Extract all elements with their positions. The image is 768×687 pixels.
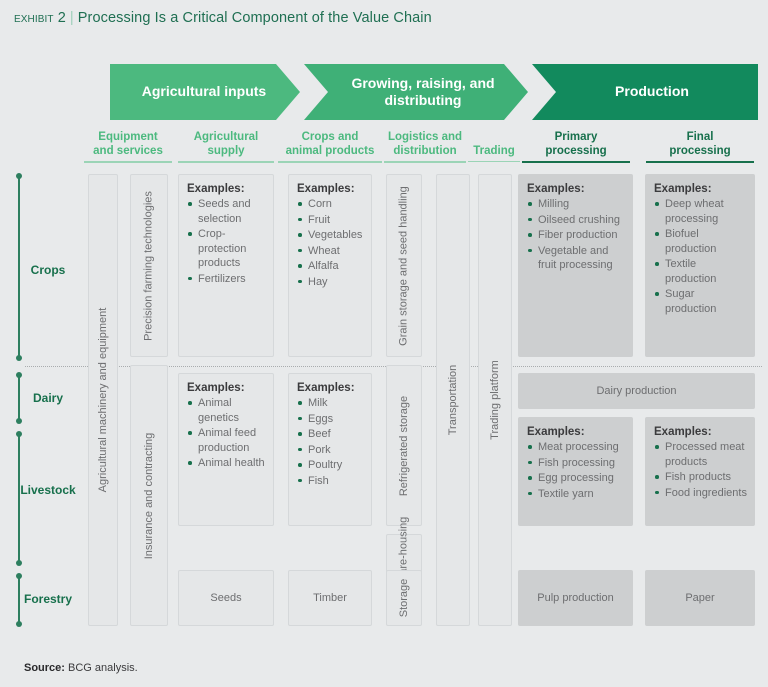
list-item: Biofuel production	[654, 227, 747, 256]
cell-forestry-storage: Storage	[386, 570, 422, 626]
list-item: Textile production	[654, 257, 747, 286]
examples-heading: Examples:	[187, 183, 266, 195]
examples-heading: Examples:	[297, 183, 364, 195]
cell-trading-platform: Trading platform	[478, 174, 512, 626]
value-chain-stage-banner: Agricultural inputs Growing, raising, an…	[110, 64, 758, 120]
stage-label: Production	[615, 83, 689, 101]
cell-label: Grain storage and seed handling	[397, 186, 412, 346]
list-item: Pork	[297, 443, 364, 458]
examples-list: Processed meat products Fish products Fo…	[654, 440, 747, 500]
list-item: Hay	[297, 275, 364, 290]
examples-heading: Examples:	[527, 426, 625, 438]
list-item: Crop-protection products	[187, 227, 266, 271]
list-item: Sugar production	[654, 287, 747, 316]
column-header-line1: Agricultural	[178, 130, 274, 144]
cell-label: Timber	[289, 592, 371, 604]
column-header-crops-and-animal-products: Crops and animal products	[278, 130, 382, 163]
column-header-line1: Crops and	[278, 130, 382, 144]
cell-forestry-products: Timber	[288, 570, 372, 626]
examples-list: Milling Oilseed crushing Fiber productio…	[527, 197, 625, 273]
list-item: Milk	[297, 396, 364, 411]
examples-heading: Examples:	[654, 426, 747, 438]
column-header-primary-processing: Primary processing	[522, 130, 630, 163]
cell-livestock-primary-processing: Examples: Meat processing Fish processin…	[518, 417, 633, 526]
list-item: Vegetable and fruit processing	[527, 244, 625, 273]
cell-grain-storage-and-seed-handling: Grain storage and seed handling	[386, 174, 422, 357]
stage-label: Growing, raising, and distributing	[330, 75, 516, 110]
row-label-livestock: Livestock	[8, 483, 88, 497]
list-item: Vegetables	[297, 228, 364, 243]
exhibit-number: Exhibit 2	[14, 10, 66, 26]
column-header-equipment-and-services: Equipment and services	[84, 130, 172, 163]
row-label-crops: Crops	[8, 263, 88, 277]
list-item: Fish	[297, 474, 364, 489]
value-chain-matrix: Crops Dairy Livestock Forestry Agricultu…	[0, 170, 768, 628]
examples-list: Corn Fruit Vegetables Wheat Alfalfa Hay	[297, 197, 364, 289]
header-underline	[468, 161, 520, 163]
list-item: Oilseed crushing	[527, 213, 625, 228]
list-item: Fish processing	[527, 456, 625, 471]
cell-forestry-final-processing: Paper	[645, 570, 755, 626]
column-header-line1: Equipment	[84, 130, 172, 144]
stage-growing-raising-distributing: Growing, raising, and distributing	[304, 64, 528, 120]
header-underline	[384, 161, 466, 163]
list-item: Meat processing	[527, 440, 625, 455]
cell-label: Storage	[397, 579, 411, 618]
examples-heading: Examples:	[527, 183, 625, 195]
row-brace-livestock	[14, 432, 23, 565]
list-item: Milling	[527, 197, 625, 212]
column-header-line2: and services	[84, 144, 172, 158]
list-item: Animal feed production	[187, 426, 266, 455]
header-underline	[278, 161, 382, 163]
column-header-line1: Final	[646, 130, 754, 144]
column-header-line2: processing	[646, 144, 754, 158]
cell-label: Insurance and contracting	[142, 432, 156, 559]
list-item: Alfalfa	[297, 259, 364, 274]
header-underline	[84, 161, 172, 163]
stage-agricultural-inputs: Agricultural inputs	[110, 64, 300, 120]
column-header-final-processing: Final processing	[646, 130, 754, 163]
cell-forestry-primary-processing: Pulp production	[518, 570, 633, 626]
column-header-agricultural-supply: Agricultural supply	[178, 130, 274, 163]
cell-label: Refrigerated storage	[397, 395, 411, 495]
examples-list: Animal genetics Animal feed production A…	[187, 396, 266, 471]
cell-label: Trading platform	[488, 360, 502, 440]
header-underline	[178, 161, 274, 163]
cell-dairy-production: Dairy production	[518, 373, 755, 409]
cell-label: Seeds	[179, 592, 273, 604]
examples-list: Deep wheat processing Biofuel production…	[654, 197, 747, 316]
cell-refrigerated-storage: Refrigerated storage	[386, 365, 422, 526]
cell-crops-products: Examples: Corn Fruit Vegetables Wheat Al…	[288, 174, 372, 357]
column-header-line2: processing	[522, 144, 630, 158]
cell-insurance-and-contracting: Insurance and contracting	[130, 365, 168, 626]
list-item: Seeds and selection	[187, 197, 266, 226]
list-item: Beef	[297, 427, 364, 442]
cell-label: Pulp production	[519, 592, 632, 604]
column-header-line2: supply	[178, 144, 274, 158]
cell-crops-agricultural-supply: Examples: Seeds and selection Crop-prote…	[178, 174, 274, 357]
list-item: Corn	[297, 197, 364, 212]
cell-label: Agricultural machinery and equipment	[96, 308, 110, 493]
column-header-trading: Trading	[468, 144, 520, 162]
examples-list: Seeds and selection Crop-protection prod…	[187, 197, 266, 286]
examples-list: Milk Eggs Beef Pork Poultry Fish	[297, 396, 364, 488]
list-item: Fertilizers	[187, 272, 266, 287]
list-item: Animal health	[187, 456, 266, 471]
cell-transportation: Transportation	[436, 174, 470, 626]
cell-agricultural-machinery-and-equipment: Agricultural machinery and equipment	[88, 174, 118, 626]
stage-label: Agricultural inputs	[142, 83, 266, 101]
cell-label: Transportation	[446, 365, 460, 436]
cell-crops-primary-processing: Examples: Milling Oilseed crushing Fiber…	[518, 174, 633, 357]
cell-livestock-products: Examples: Milk Eggs Beef Pork Poultry Fi…	[288, 373, 372, 526]
source-label: Source:	[24, 662, 65, 674]
cell-livestock-final-processing: Examples: Processed meat products Fish p…	[645, 417, 755, 526]
row-label-forestry: Forestry	[8, 592, 88, 606]
examples-heading: Examples:	[187, 382, 266, 394]
column-header-line2: distribution	[384, 144, 466, 158]
examples-heading: Examples:	[654, 183, 747, 195]
header-underline	[646, 161, 754, 163]
list-item: Eggs	[297, 412, 364, 427]
cell-crops-final-processing: Examples: Deep wheat processing Biofuel …	[645, 174, 755, 357]
list-item: Wheat	[297, 244, 364, 259]
title-separator: |	[70, 10, 74, 26]
column-header-logistics-and-distribution: Logistics and distribution	[384, 130, 466, 163]
cell-precision-farming-technologies: Precision farming technologies	[130, 174, 168, 357]
column-header-line1: Trading	[468, 144, 520, 158]
list-item: Food ingredients	[654, 486, 747, 501]
source-note: Source: BCG analysis.	[24, 662, 138, 674]
header-underline	[522, 161, 630, 163]
list-item: Fish products	[654, 470, 747, 485]
cell-forestry-agricultural-supply: Seeds	[178, 570, 274, 626]
examples-heading: Examples:	[297, 382, 364, 394]
cell-livestock-agricultural-supply: Examples: Animal genetics Animal feed pr…	[178, 373, 274, 526]
column-header-line1: Logistics and	[384, 130, 466, 144]
column-header-line2: animal products	[278, 144, 382, 158]
list-item: Animal genetics	[187, 396, 266, 425]
list-item: Egg processing	[527, 471, 625, 486]
list-item: Deep wheat processing	[654, 197, 747, 226]
examples-list: Meat processing Fish processing Egg proc…	[527, 440, 625, 501]
source-text: BCG analysis.	[68, 662, 138, 674]
list-item: Processed meat products	[654, 440, 747, 469]
cell-label: Dairy production	[519, 385, 754, 397]
list-item: Fiber production	[527, 228, 625, 243]
list-item: Textile yarn	[527, 487, 625, 502]
cell-label: Paper	[646, 592, 754, 604]
column-header-line1: Primary	[522, 130, 630, 144]
title-text: Processing Is a Critical Component of th…	[78, 10, 432, 26]
list-item: Poultry	[297, 458, 364, 473]
row-label-dairy: Dairy	[8, 391, 88, 405]
stage-production: Production	[532, 64, 758, 120]
page-title: Exhibit 2|Processing Is a Critical Compo…	[14, 10, 432, 26]
list-item: Fruit	[297, 213, 364, 228]
cell-label: Precision farming technologies	[142, 191, 157, 341]
